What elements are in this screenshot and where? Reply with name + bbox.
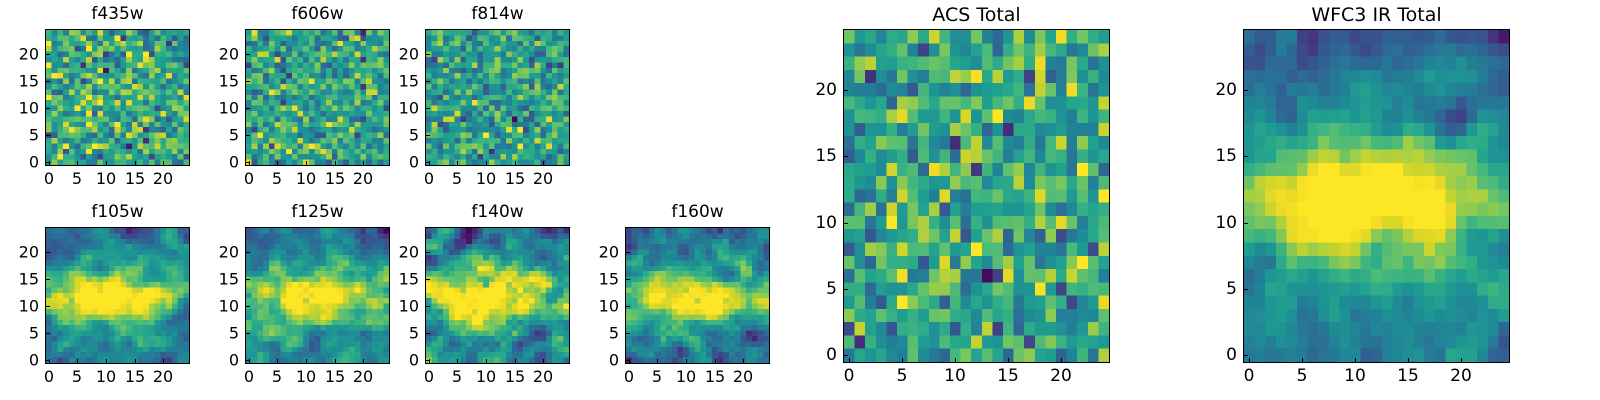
ytick-mark xyxy=(426,162,430,163)
plot-area-f435w xyxy=(45,29,190,166)
ytick-mark xyxy=(246,54,250,55)
xtick-mark xyxy=(363,359,364,363)
panel-f606w: f606w0510152005101520 xyxy=(0,0,1600,400)
xtick-mark xyxy=(277,161,278,165)
xtick-label: 0 xyxy=(1244,366,1255,386)
xtick-label: 5 xyxy=(1297,366,1308,386)
ytick-mark xyxy=(426,252,430,253)
ytick-mark xyxy=(426,360,430,361)
xtick-mark xyxy=(429,161,430,165)
plot-area-f125w xyxy=(245,227,390,364)
xtick-mark xyxy=(1249,358,1250,362)
xtick-label: 0 xyxy=(44,367,54,386)
xtick-label: 15 xyxy=(997,366,1019,386)
xtick-label: 10 xyxy=(476,169,496,188)
xtick-label: 10 xyxy=(476,367,496,386)
panel-title-f606w: f606w xyxy=(245,4,390,24)
ytick-label: 15 xyxy=(797,146,837,166)
ytick-label: 20 xyxy=(1197,80,1237,100)
ytick-mark xyxy=(246,162,250,163)
xtick-label: 15 xyxy=(505,367,525,386)
xtick-label: 10 xyxy=(676,367,696,386)
plot-area-wfc3-ir-total xyxy=(1243,29,1510,363)
ytick-mark xyxy=(844,90,848,91)
ytick-label: 10 xyxy=(0,297,39,316)
heatmap-f140w xyxy=(426,228,569,363)
xtick-mark xyxy=(657,359,658,363)
ytick-label: 5 xyxy=(1197,279,1237,299)
xtick-mark xyxy=(686,359,687,363)
xtick-mark xyxy=(163,359,164,363)
panel-f814w: f814w0510152005101520 xyxy=(0,0,1600,400)
ytick-label: 0 xyxy=(199,153,239,172)
xtick-label: 10 xyxy=(296,367,316,386)
xtick-mark xyxy=(743,359,744,363)
ytick-label: 10 xyxy=(199,297,239,316)
xtick-label: 0 xyxy=(844,366,855,386)
xtick-mark xyxy=(515,161,516,165)
ytick-mark xyxy=(246,252,250,253)
plot-area-f814w xyxy=(425,29,570,166)
ytick-mark xyxy=(1244,90,1248,91)
ytick-mark xyxy=(626,306,630,307)
heatmap-f606w xyxy=(246,30,389,165)
xtick-label: 5 xyxy=(272,367,282,386)
xtick-label: 15 xyxy=(125,169,145,188)
ytick-label: 0 xyxy=(0,153,39,172)
xtick-mark xyxy=(715,359,716,363)
ytick-mark xyxy=(1244,289,1248,290)
xtick-mark xyxy=(77,161,78,165)
xtick-mark xyxy=(77,359,78,363)
panel-title-f105w: f105w xyxy=(45,202,190,222)
ytick-mark xyxy=(844,223,848,224)
panel-f435w: f435w0510152005101520 xyxy=(0,0,1600,400)
xtick-mark xyxy=(106,359,107,363)
ytick-label: 20 xyxy=(0,45,39,64)
xtick-label: 5 xyxy=(452,367,462,386)
ytick-label: 5 xyxy=(379,126,419,145)
xtick-label: 10 xyxy=(944,366,966,386)
xtick-label: 10 xyxy=(96,367,116,386)
xtick-mark xyxy=(277,359,278,363)
ytick-label: 15 xyxy=(199,72,239,91)
xtick-mark xyxy=(849,358,850,362)
panel-f105w: f105w0510152005101520 xyxy=(0,0,1600,400)
xtick-label: 10 xyxy=(96,169,116,188)
plot-area-f606w xyxy=(245,29,390,166)
ytick-mark xyxy=(1244,156,1248,157)
panel-title-acs-total: ACS Total xyxy=(843,4,1110,26)
ytick-label: 20 xyxy=(579,243,619,262)
xtick-label: 20 xyxy=(353,169,373,188)
ytick-mark xyxy=(626,360,630,361)
ytick-mark xyxy=(246,279,250,280)
ytick-mark xyxy=(46,81,50,82)
panel-title-f125w: f125w xyxy=(245,202,390,222)
ytick-label: 0 xyxy=(379,153,419,172)
ytick-label: 10 xyxy=(379,99,419,118)
ytick-label: 15 xyxy=(1197,146,1237,166)
ytick-label: 5 xyxy=(0,324,39,343)
ytick-mark xyxy=(626,333,630,334)
ytick-mark xyxy=(426,135,430,136)
ytick-mark xyxy=(426,54,430,55)
xtick-mark xyxy=(135,161,136,165)
panel-wfc3-ir-total: WFC3 IR Total0510152005101520 xyxy=(0,0,1600,400)
ytick-mark xyxy=(426,333,430,334)
xtick-label: 0 xyxy=(424,367,434,386)
ytick-label: 5 xyxy=(797,279,837,299)
ytick-mark xyxy=(46,360,50,361)
panel-f125w: f125w0510152005101520 xyxy=(0,0,1600,400)
ytick-label: 20 xyxy=(199,45,239,64)
plot-area-f105w xyxy=(45,227,190,364)
ytick-label: 5 xyxy=(0,126,39,145)
ytick-mark xyxy=(844,156,848,157)
ytick-label: 20 xyxy=(0,243,39,262)
xtick-mark xyxy=(363,161,364,165)
ytick-mark xyxy=(246,108,250,109)
ytick-label: 0 xyxy=(1197,345,1237,365)
ytick-label: 10 xyxy=(379,297,419,316)
panel-title-f435w: f435w xyxy=(45,4,190,24)
ytick-mark xyxy=(246,306,250,307)
xtick-label: 15 xyxy=(325,367,345,386)
ytick-mark xyxy=(46,54,50,55)
ytick-mark xyxy=(246,135,250,136)
figure-canvas: f435w0510152005101520f606w05101520051015… xyxy=(0,0,1600,400)
ytick-label: 15 xyxy=(199,270,239,289)
xtick-label: 15 xyxy=(1397,366,1419,386)
ytick-label: 0 xyxy=(199,351,239,370)
ytick-label: 15 xyxy=(379,270,419,289)
panel-acs-total: ACS Total0510152005101520 xyxy=(0,0,1600,400)
ytick-mark xyxy=(844,289,848,290)
xtick-mark xyxy=(902,358,903,362)
ytick-mark xyxy=(426,306,430,307)
xtick-mark xyxy=(335,359,336,363)
xtick-mark xyxy=(49,161,50,165)
ytick-label: 5 xyxy=(199,126,239,145)
ytick-label: 10 xyxy=(579,297,619,316)
xtick-mark xyxy=(955,358,956,362)
heatmap-f125w xyxy=(246,228,389,363)
ytick-mark xyxy=(844,355,848,356)
xtick-label: 15 xyxy=(125,367,145,386)
ytick-label: 15 xyxy=(0,72,39,91)
xtick-mark xyxy=(49,359,50,363)
panel-title-wfc3-ir-total: WFC3 IR Total xyxy=(1243,4,1510,26)
ytick-mark xyxy=(46,279,50,280)
xtick-mark xyxy=(135,359,136,363)
xtick-mark xyxy=(1302,358,1303,362)
panel-f160w: f160w0510152005101520 xyxy=(0,0,1600,400)
xtick-label: 20 xyxy=(153,367,173,386)
xtick-label: 20 xyxy=(533,367,553,386)
xtick-mark xyxy=(1461,358,1462,362)
plot-area-acs-total xyxy=(843,29,1110,363)
ytick-mark xyxy=(426,81,430,82)
heatmap-f160w xyxy=(626,228,769,363)
ytick-label: 5 xyxy=(199,324,239,343)
ytick-mark xyxy=(46,108,50,109)
ytick-mark xyxy=(46,333,50,334)
xtick-label: 0 xyxy=(424,169,434,188)
ytick-mark xyxy=(1244,223,1248,224)
xtick-mark xyxy=(306,161,307,165)
xtick-label: 15 xyxy=(705,367,725,386)
xtick-mark xyxy=(163,161,164,165)
xtick-mark xyxy=(106,161,107,165)
xtick-label: 20 xyxy=(733,367,753,386)
xtick-label: 20 xyxy=(353,367,373,386)
xtick-mark xyxy=(429,359,430,363)
ytick-mark xyxy=(46,135,50,136)
ytick-label: 5 xyxy=(379,324,419,343)
xtick-mark xyxy=(1408,358,1409,362)
ytick-mark xyxy=(246,81,250,82)
ytick-mark xyxy=(626,279,630,280)
xtick-label: 5 xyxy=(452,169,462,188)
xtick-label: 5 xyxy=(72,367,82,386)
xtick-label: 0 xyxy=(244,169,254,188)
ytick-label: 0 xyxy=(0,351,39,370)
ytick-label: 15 xyxy=(0,270,39,289)
xtick-label: 0 xyxy=(624,367,634,386)
xtick-label: 0 xyxy=(44,169,54,188)
ytick-label: 10 xyxy=(199,99,239,118)
xtick-mark xyxy=(515,359,516,363)
xtick-mark xyxy=(1355,358,1356,362)
ytick-mark xyxy=(426,279,430,280)
xtick-mark xyxy=(543,359,544,363)
xtick-mark xyxy=(543,161,544,165)
heatmap-acs-total xyxy=(844,30,1109,362)
xtick-label: 20 xyxy=(1050,366,1072,386)
heatmap-f435w xyxy=(46,30,189,165)
xtick-label: 5 xyxy=(652,367,662,386)
xtick-label: 5 xyxy=(72,169,82,188)
ytick-label: 10 xyxy=(0,99,39,118)
plot-area-f160w xyxy=(625,227,770,364)
ytick-mark xyxy=(426,108,430,109)
ytick-mark xyxy=(46,162,50,163)
ytick-label: 0 xyxy=(579,351,619,370)
ytick-label: 10 xyxy=(1197,213,1237,233)
xtick-label: 0 xyxy=(244,367,254,386)
ytick-label: 10 xyxy=(797,213,837,233)
xtick-mark xyxy=(457,161,458,165)
panel-title-f140w: f140w xyxy=(425,202,570,222)
xtick-label: 15 xyxy=(505,169,525,188)
xtick-mark xyxy=(306,359,307,363)
xtick-mark xyxy=(335,161,336,165)
panel-title-f814w: f814w xyxy=(425,4,570,24)
xtick-mark xyxy=(486,161,487,165)
ytick-label: 0 xyxy=(797,345,837,365)
panel-title-f160w: f160w xyxy=(625,202,770,222)
ytick-label: 20 xyxy=(797,80,837,100)
ytick-mark xyxy=(46,252,50,253)
ytick-label: 5 xyxy=(579,324,619,343)
xtick-label: 20 xyxy=(153,169,173,188)
xtick-mark xyxy=(1008,358,1009,362)
ytick-label: 15 xyxy=(579,270,619,289)
plot-area-f140w xyxy=(425,227,570,364)
ytick-label: 20 xyxy=(379,243,419,262)
heatmap-f814w xyxy=(426,30,569,165)
ytick-mark xyxy=(626,252,630,253)
xtick-mark xyxy=(249,161,250,165)
xtick-mark xyxy=(1061,358,1062,362)
xtick-label: 15 xyxy=(325,169,345,188)
ytick-mark xyxy=(246,333,250,334)
xtick-mark xyxy=(457,359,458,363)
ytick-label: 0 xyxy=(379,351,419,370)
xtick-mark xyxy=(629,359,630,363)
xtick-mark xyxy=(486,359,487,363)
ytick-label: 15 xyxy=(379,72,419,91)
xtick-mark xyxy=(249,359,250,363)
heatmap-wfc3-ir-total xyxy=(1244,30,1509,362)
ytick-mark xyxy=(46,306,50,307)
xtick-label: 20 xyxy=(1450,366,1472,386)
xtick-label: 10 xyxy=(296,169,316,188)
xtick-label: 20 xyxy=(533,169,553,188)
xtick-label: 5 xyxy=(897,366,908,386)
ytick-mark xyxy=(1244,355,1248,356)
heatmap-f105w xyxy=(46,228,189,363)
xtick-label: 5 xyxy=(272,169,282,188)
ytick-label: 20 xyxy=(379,45,419,64)
ytick-label: 20 xyxy=(199,243,239,262)
ytick-mark xyxy=(246,360,250,361)
panel-f140w: f140w0510152005101520 xyxy=(0,0,1600,400)
xtick-label: 10 xyxy=(1344,366,1366,386)
